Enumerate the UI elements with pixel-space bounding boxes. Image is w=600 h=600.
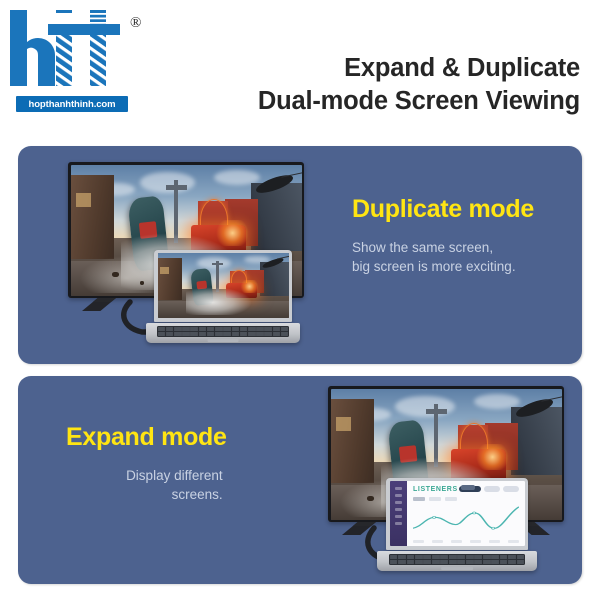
brand-logo: ® hopthanhthinh.com: [8, 8, 143, 113]
dashboard-secondary-pill[interactable]: [484, 486, 500, 492]
laptop-duplicate: [154, 250, 292, 342]
laptop-expand: LISTENERS: [386, 478, 528, 572]
dashboard-tabs[interactable]: [413, 497, 518, 501]
duplicate-mode-subtext: Show the same screen, big screen is more…: [352, 238, 534, 276]
expand-mode-subtext: Display different screens.: [66, 466, 227, 504]
laptop-base: [377, 551, 536, 571]
dashboard-tooltip-badge: [461, 485, 475, 490]
page-title-line1: Expand & Duplicate: [344, 54, 580, 82]
game-scene-art-mirrored: [158, 253, 289, 318]
htt-logo-icon: [8, 8, 126, 88]
promo-page: ® hopthanhthinh.com Expand & Duplicate D…: [0, 0, 600, 600]
tv-stand-left: [342, 522, 376, 535]
laptop-keyboard: [157, 326, 290, 337]
laptop-trackpad: [208, 339, 239, 342]
dashboard-body: LISTENERS: [407, 481, 524, 546]
expand-subtext-line1: Display different: [66, 466, 223, 485]
dashboard-tertiary-pill[interactable]: [503, 486, 519, 492]
panel-expand-mode: Expand mode Display different screens.: [18, 376, 582, 584]
laptop-base: [146, 323, 301, 343]
laptop-lid: LISTENERS: [386, 478, 528, 550]
laptop-lid: [154, 250, 292, 322]
duplicate-text-block: Duplicate mode Show the same screen, big…: [352, 196, 534, 276]
expand-text-block: Expand mode Display different screens.: [66, 424, 227, 504]
logo-domain-band: hopthanhthinh.com: [16, 96, 128, 112]
laptop-keyboard: [389, 554, 526, 565]
duplicate-mode-title: Duplicate mode: [352, 196, 534, 224]
laptop-screen-dashboard: LISTENERS: [390, 481, 525, 546]
dashboard-sidebar[interactable]: [390, 481, 408, 546]
page-title-line2: Dual-mode Screen Viewing: [258, 85, 580, 118]
duplicate-device-scene: [58, 162, 318, 350]
expand-subtext-line2: screens.: [66, 485, 223, 504]
page-title: Expand & Duplicate Dual-mode Screen View…: [258, 52, 580, 117]
duplicate-subtext-line2: big screen is more exciting.: [352, 257, 534, 276]
laptop-trackpad: [441, 567, 473, 570]
tv-stand-left: [82, 298, 116, 311]
dashboard-art: LISTENERS: [390, 481, 525, 546]
laptop-screen-duplicate: [158, 253, 289, 318]
registered-trademark-icon: ®: [130, 16, 141, 31]
panel-duplicate-mode: Duplicate mode Show the same screen, big…: [18, 146, 582, 364]
logo-domain-text: hopthanhthinh.com: [29, 99, 116, 110]
dashboard-line-chart: [413, 505, 518, 534]
duplicate-subtext-line1: Show the same screen,: [352, 238, 534, 257]
dashboard-axis-labels: [413, 540, 518, 543]
expand-mode-title: Expand mode: [66, 424, 227, 452]
expand-device-scene: LISTENERS: [318, 386, 576, 576]
